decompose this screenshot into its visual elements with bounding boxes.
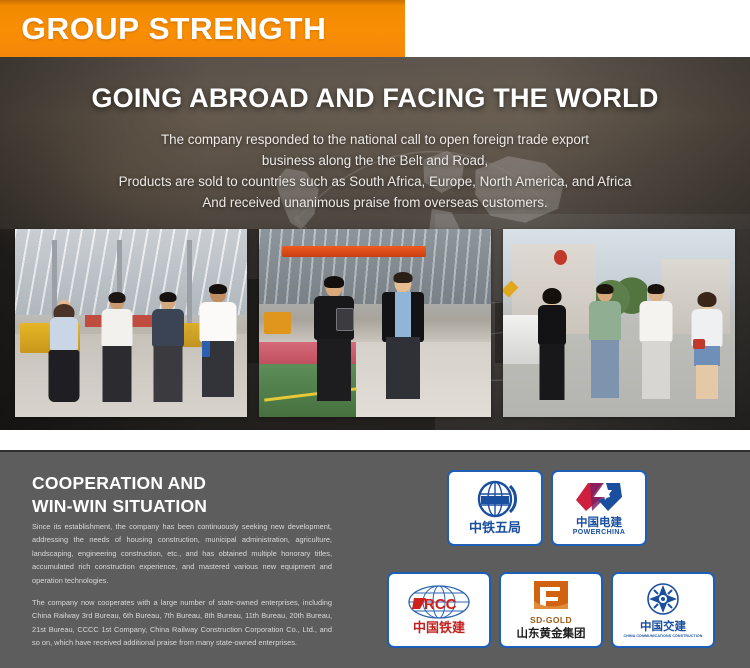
logo-label-cn: 中国电建 (576, 516, 622, 529)
globe-crcc-emblem-icon: RCC (406, 584, 472, 620)
hero-paragraph-line: And received unanimous praise from overs… (0, 192, 750, 213)
logo-crcc-china-railway-construction: RCC 中国铁建 (387, 572, 491, 648)
hero-paragraph-line: The company responded to the national ca… (0, 129, 750, 150)
photo-gallery (0, 229, 750, 419)
red-blue-diamond-emblem-icon (572, 480, 626, 514)
hero-content: GOING ABROAD AND FACING THE WORLD The co… (0, 83, 750, 213)
logo-label-cn: 山东黄金集团 (517, 627, 586, 640)
globe-crec-emblem-icon (470, 480, 520, 520)
partner-logos-row-bottom: RCC 中国铁建 SD-GOLD 山东黄金集团 (387, 572, 715, 648)
logo-powerchina: 中国电建 POWERCHINA (551, 470, 647, 546)
logo-label-en: POWERCHINA (573, 529, 626, 536)
blue-compass-emblem-icon (641, 582, 685, 618)
logo-cccc-china-communications-construction: 中国交建 CHINA COMMUNICATIONS CONSTRUCTION (611, 572, 715, 648)
cooperation-paragraph-1: Since its establishment, the company has… (32, 520, 332, 587)
logo-label-en: SD-GOLD (530, 615, 572, 625)
cooperation-heading: COOPERATION AND WIN-WIN SITUATION (32, 472, 207, 518)
photo-two-men-thumbs-up (259, 229, 491, 417)
logo-china-railway-no5-bureau: 中铁五局 (447, 470, 543, 546)
svg-text:RCC: RCC (424, 596, 457, 613)
orange-square-emblem-icon (530, 580, 572, 614)
photo-factory-group (15, 229, 247, 417)
header-banner: GROUP STRENGTH (0, 0, 405, 57)
logo-label-cn: 中铁五局 (469, 522, 521, 536)
page-title: GROUP STRENGTH (0, 11, 326, 47)
cooperation-body: Since its establishment, the company has… (32, 520, 332, 659)
cooperation-paragraph-2: The company now cooperates with a large … (32, 596, 332, 650)
page-root: GROUP STRENGTH (0, 0, 750, 668)
logo-label-cn: 中国铁建 (413, 622, 465, 636)
hero-paragraph: The company responded to the national ca… (0, 129, 750, 213)
cooperation-section: COOPERATION AND WIN-WIN SITUATION Since … (0, 450, 750, 668)
logo-label-en: CHINA COMMUNICATIONS CONSTRUCTION (624, 634, 703, 638)
cooperation-heading-line2: WIN-WIN SITUATION (32, 495, 207, 518)
logo-label-cn: 中国交建 (640, 620, 686, 633)
hero-paragraph-line: Products are sold to countries such as S… (0, 171, 750, 192)
logo-sd-gold-shandong-gold-group: SD-GOLD 山东黄金集团 (499, 572, 603, 648)
hero-heading: GOING ABROAD AND FACING THE WORLD (0, 83, 750, 114)
partner-logos-row-top: 中铁五局 中国电建 POWERCHINA (447, 470, 647, 546)
cooperation-heading-line1: COOPERATION AND (32, 472, 207, 495)
hero-paragraph-line: business along the the Belt and Road, (0, 150, 750, 171)
photo-street-group (503, 229, 735, 417)
